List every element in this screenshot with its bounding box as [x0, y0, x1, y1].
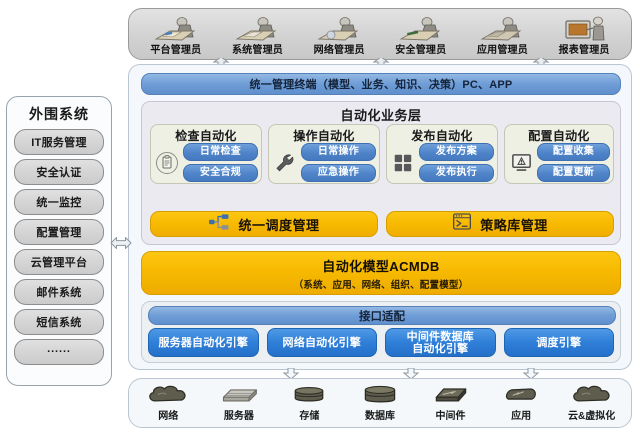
wrench-icon [272, 151, 298, 175]
database-icon [359, 384, 401, 410]
card-release-automation[interactable]: 发布自动化 发布方案 发布执行 [386, 124, 498, 184]
infra-label: 数据库 [365, 411, 395, 423]
pill-item[interactable]: 日常操作 [301, 143, 376, 161]
role-label: 报表管理员 [559, 45, 610, 57]
unified-terminal-bar[interactable]: 统一管理终端（模型、业务、知识、决策）PC、APP [141, 73, 621, 95]
sidebar-item-security-auth[interactable]: 安全认证 [14, 159, 104, 185]
pill-item[interactable]: 发布执行 [419, 164, 494, 182]
roles-bar: 平台管理员 系统管理员 网络管理 [128, 8, 632, 60]
policy-library-management-bar[interactable]: 策略库管理 [386, 211, 614, 237]
box-icon [430, 384, 472, 410]
business-layer-panel: 自动化业务层 检查自动化 日常检查 安全合规 [141, 101, 621, 245]
role-item[interactable]: 平台管理员 [136, 15, 216, 57]
infra-item[interactable]: 服务器 [206, 384, 272, 423]
node-tree-icon [208, 213, 230, 236]
card-configuration-automation[interactable]: 配置自动化 配置收集 配置更新 [504, 124, 614, 184]
role-label: 系统管理员 [232, 45, 283, 57]
infra-item[interactable]: 应用 [488, 384, 554, 423]
pill-item[interactable]: 发布方案 [419, 143, 494, 161]
infra-label: 网络 [158, 411, 178, 423]
card-title: 操作自动化 [269, 127, 379, 144]
role-item[interactable]: 应用管理员 [462, 15, 542, 57]
engine-middleware-database-automation[interactable]: 中间件数据库 自动化引擎 [385, 328, 496, 357]
infra-item[interactable]: 云&虚拟化 [559, 384, 625, 423]
acmdb-subtitle: （系统、应用、网络、组织、配置模型） [294, 277, 469, 291]
disk-icon [288, 384, 330, 410]
card-title: 配置自动化 [505, 127, 613, 144]
acmdb-block[interactable]: 自动化模型ACMDB （系统、应用、网络、组织、配置模型） [141, 251, 621, 295]
desk-user-icon [311, 15, 367, 45]
sidebar-item-mail-system[interactable]: 邮件系统 [14, 279, 104, 305]
sidebar-item-config-management[interactable]: 配置管理 [14, 219, 104, 245]
peripheral-systems-sidebar: 外围系统 IT服务管理 安全认证 统一监控 配置管理 云管理平台 邮件系统 短信… [6, 96, 112, 386]
role-item[interactable]: 安全管理员 [381, 15, 461, 57]
unified-scheduling-management-bar[interactable]: 统一调度管理 [150, 211, 378, 237]
pill-item[interactable]: 安全合规 [183, 164, 258, 182]
engine-row: 服务器自动化引擎 网络自动化引擎 中间件数据库 自动化引擎 调度引擎 [148, 328, 614, 357]
pill-item[interactable]: 配置收集 [537, 143, 610, 161]
main-architecture-panel: 统一管理终端（模型、业务、知识、决策）PC、APP 自动化业务层 检查自动化 [128, 64, 632, 370]
desk-user-icon [148, 15, 204, 45]
diagram-canvas: 平台管理员 系统管理员 网络管理 [0, 0, 640, 432]
desk-user-icon [393, 15, 449, 45]
infra-label: 存储 [299, 411, 319, 423]
infra-item[interactable]: 存储 [276, 384, 342, 423]
pill-item[interactable]: 应急操作 [301, 164, 376, 182]
orange-bar-label: 策略库管理 [480, 215, 548, 234]
sidebar-item-sms-system[interactable]: 短信系统 [14, 309, 104, 335]
connector-sidebar-to-main [110, 232, 132, 254]
desk-user-icon [229, 15, 285, 45]
cloud-icon [147, 384, 189, 410]
pill-item[interactable]: 配置更新 [537, 164, 610, 182]
interface-layer-panel: 接口适配 服务器自动化引擎 网络自动化引擎 中间件数据库 自动化引擎 调度引擎 [141, 301, 621, 363]
infra-label: 中间件 [436, 411, 466, 423]
sidebar-item-more[interactable]: ······ [14, 339, 104, 365]
infra-item[interactable]: 中间件 [418, 384, 484, 423]
card-title: 发布自动化 [387, 127, 497, 144]
role-item[interactable]: 系统管理员 [217, 15, 297, 57]
role-item[interactable]: 网络管理员 [299, 15, 379, 57]
pill-item[interactable]: 日常检查 [183, 143, 258, 161]
infra-label: 应用 [511, 411, 531, 423]
app-icon [500, 384, 542, 410]
infra-item[interactable]: 网络 [135, 384, 201, 423]
engine-scheduling[interactable]: 调度引擎 [504, 328, 615, 357]
desk-user-icon [474, 15, 530, 45]
infra-label: 云&虚拟化 [568, 411, 615, 423]
card-inspection-automation[interactable]: 检查自动化 日常检查 安全合规 [150, 124, 262, 184]
role-label: 平台管理员 [150, 45, 201, 57]
sidebar-item-unified-monitoring[interactable]: 统一监控 [14, 189, 104, 215]
monitor-warning-icon [508, 151, 534, 174]
clipboard-icon [154, 151, 180, 175]
role-label: 网络管理员 [314, 45, 365, 57]
server-stack-icon [218, 384, 260, 410]
infra-label: 服务器 [224, 411, 254, 423]
cloud-icon [571, 384, 613, 410]
engine-network-automation[interactable]: 网络自动化引擎 [267, 328, 378, 357]
role-label: 应用管理员 [477, 45, 528, 57]
orange-bar-label: 统一调度管理 [238, 215, 319, 234]
sidebar-item-cloud-platform[interactable]: 云管理平台 [14, 249, 104, 275]
infra-item[interactable]: 数据库 [347, 384, 413, 423]
terminal-icon [452, 212, 472, 236]
infrastructure-bar: 网络 服务器 存储 [128, 378, 632, 428]
grid-squares-icon [390, 152, 416, 174]
card-operation-automation[interactable]: 操作自动化 日常操作 应急操作 [268, 124, 380, 184]
interface-adaptation-bar[interactable]: 接口适配 [148, 306, 616, 325]
sidebar-title: 外围系统 [14, 104, 104, 124]
acmdb-title: 自动化模型ACMDB [322, 256, 439, 275]
role-label: 安全管理员 [395, 45, 446, 57]
board-user-icon [556, 15, 612, 45]
engine-server-automation[interactable]: 服务器自动化引擎 [148, 328, 259, 357]
card-title: 检查自动化 [151, 127, 261, 144]
sidebar-item-it-service[interactable]: IT服务管理 [14, 129, 104, 155]
business-layer-title: 自动化业务层 [142, 105, 620, 124]
role-item[interactable]: 报表管理员 [544, 15, 624, 57]
